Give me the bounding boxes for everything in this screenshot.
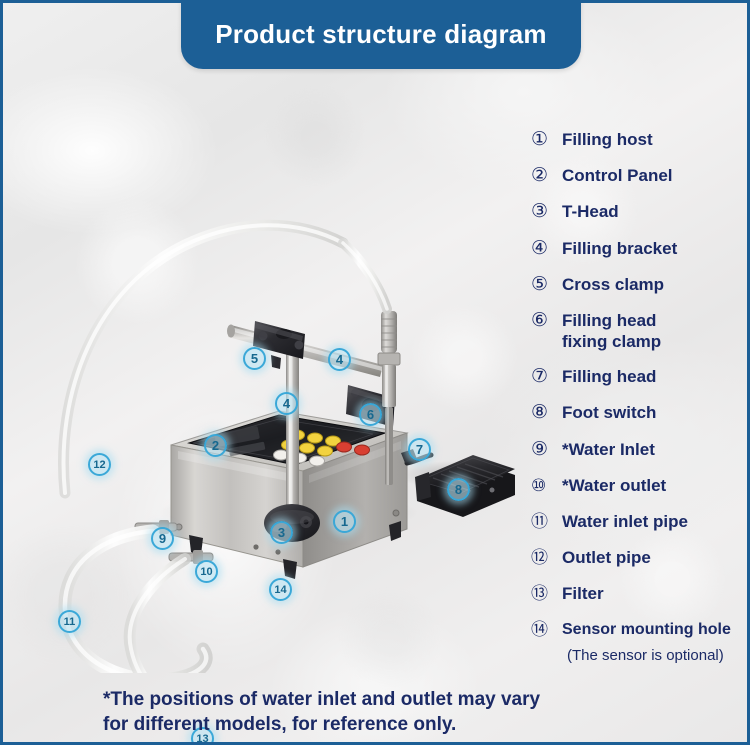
callout-2: 2 — [204, 434, 227, 457]
legend-number-9: ⑨ — [531, 439, 557, 461]
legend-label-14: Sensor mounting hole — [557, 619, 731, 640]
callout-3: 3 — [270, 521, 293, 544]
legend-sensor-optional-note: (The sensor is optional) — [531, 647, 739, 664]
legend-label-10: *Water outlet — [557, 475, 666, 496]
legend-label-12: Outlet pipe — [557, 547, 651, 568]
legend-number-7: ⑦ — [531, 366, 557, 388]
legend-item-outlet-pipe: ⑫ Outlet pipe — [531, 547, 739, 569]
product-structure-diagram-page: Product structure diagram — [0, 0, 750, 745]
page-title: Product structure diagram — [215, 19, 547, 50]
legend-number-14: ⑭ — [531, 619, 557, 641]
legend-number-11: ⑪ — [531, 511, 557, 533]
product-photo: 1 2 3 4 4 5 6 7 8 9 10 11 12 13 14 — [3, 93, 533, 673]
legend-item-cross-clamp: ⑤ Cross clamp — [531, 274, 739, 296]
callout-10: 10 — [195, 560, 218, 583]
legend-label-2: Control Panel — [557, 165, 673, 186]
legend-label-8: Foot switch — [557, 402, 656, 423]
legend-label-7: Filling head — [557, 366, 656, 387]
legend-number-4: ④ — [531, 238, 557, 260]
legend-item-sensor-mounting-hole: ⑭ Sensor mounting hole — [531, 619, 739, 641]
callout-5: 5 — [243, 347, 266, 370]
legend-list: ① Filling host ② Control Panel ③ T-Head … — [531, 129, 739, 678]
legend-number-10: ⑩ — [531, 475, 557, 497]
legend-label-11: Water inlet pipe — [557, 511, 688, 532]
legend-number-2: ② — [531, 165, 557, 187]
legend-number-3: ③ — [531, 201, 557, 223]
callout-14: 14 — [269, 578, 292, 601]
legend-item-filling-host: ① Filling host — [531, 129, 739, 151]
legend-item-foot-switch: ⑧ Foot switch — [531, 402, 739, 424]
callout-8: 8 — [447, 478, 470, 501]
legend-number-1: ① — [531, 129, 557, 151]
callout-12: 12 — [88, 453, 111, 476]
legend-label-13: Filter — [557, 583, 604, 604]
footnote-line-2: for different models, for reference only… — [103, 712, 663, 737]
legend-item-control-panel: ② Control Panel — [531, 165, 739, 187]
legend-number-8: ⑧ — [531, 402, 557, 424]
legend-number-13: ⑬ — [531, 583, 557, 605]
legend-number-12: ⑫ — [531, 547, 557, 569]
callout-4b: 4 — [275, 392, 298, 415]
legend-number-5: ⑤ — [531, 274, 557, 296]
legend-label-5: Cross clamp — [557, 274, 664, 295]
legend-item-water-inlet: ⑨ *Water Inlet — [531, 439, 739, 461]
callout-1: 1 — [333, 510, 356, 533]
legend-number-6: ⑥ — [531, 310, 557, 332]
header-banner: Product structure diagram — [181, 0, 581, 69]
footnote-line-1: *The positions of water inlet and outlet… — [103, 687, 663, 712]
footnote: *The positions of water inlet and outlet… — [103, 687, 663, 737]
callout-11: 11 — [58, 610, 81, 633]
legend-label-1: Filling host — [557, 129, 653, 150]
callout-7: 7 — [408, 438, 431, 461]
legend-label-3: T-Head — [557, 201, 619, 222]
legend-label-9: *Water Inlet — [557, 439, 655, 460]
legend-item-filling-head-fixing-clamp: ⑥ Filling head fixing clamp — [531, 310, 739, 352]
legend-label-4: Filling bracket — [557, 238, 677, 259]
legend-item-filter: ⑬ Filter — [531, 583, 739, 605]
callout-4: 4 — [328, 348, 351, 371]
legend-item-t-head: ③ T-Head — [531, 201, 739, 223]
callout-9: 9 — [151, 527, 174, 550]
callout-6: 6 — [359, 403, 382, 426]
legend-item-water-outlet: ⑩ *Water outlet — [531, 475, 739, 497]
legend-item-filling-bracket: ④ Filling bracket — [531, 238, 739, 260]
legend-item-filling-head: ⑦ Filling head — [531, 366, 739, 388]
legend-label-6: Filling head fixing clamp — [557, 310, 661, 352]
legend-item-water-inlet-pipe: ⑪ Water inlet pipe — [531, 511, 739, 533]
